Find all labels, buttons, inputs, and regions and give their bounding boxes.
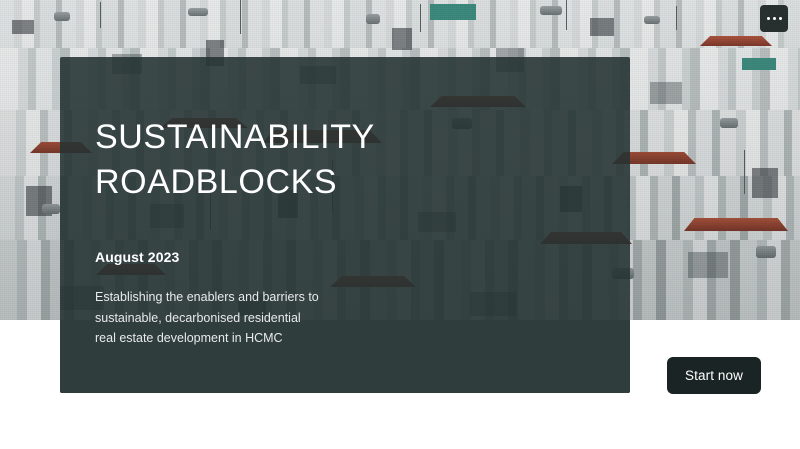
ellipsis-dot-icon: [773, 17, 776, 20]
slide-subtitle: Establishing the enablers and barriers t…: [95, 287, 596, 348]
start-now-button[interactable]: Start now: [667, 357, 761, 394]
slide-subtitle-line-3: real estate development in HCMC: [95, 328, 596, 348]
ellipsis-dot-icon: [767, 17, 770, 20]
more-options-button[interactable]: [760, 5, 788, 32]
page-title-line-2: ROADBLOCKS: [95, 160, 596, 205]
presentation-slide: SUSTAINABILITY ROADBLOCKS August 2023 Es…: [0, 0, 800, 449]
page-title-line-1: SUSTAINABILITY: [95, 115, 596, 160]
ellipsis-dot-icon: [779, 17, 782, 20]
title-content: SUSTAINABILITY ROADBLOCKS August 2023 Es…: [60, 57, 630, 393]
slide-subtitle-line-2: sustainable, decarbonised residential: [95, 308, 596, 328]
slide-subtitle-line-1: Establishing the enablers and barriers t…: [95, 287, 596, 307]
page-title: SUSTAINABILITY ROADBLOCKS: [95, 115, 596, 205]
slide-date: August 2023: [95, 249, 596, 265]
